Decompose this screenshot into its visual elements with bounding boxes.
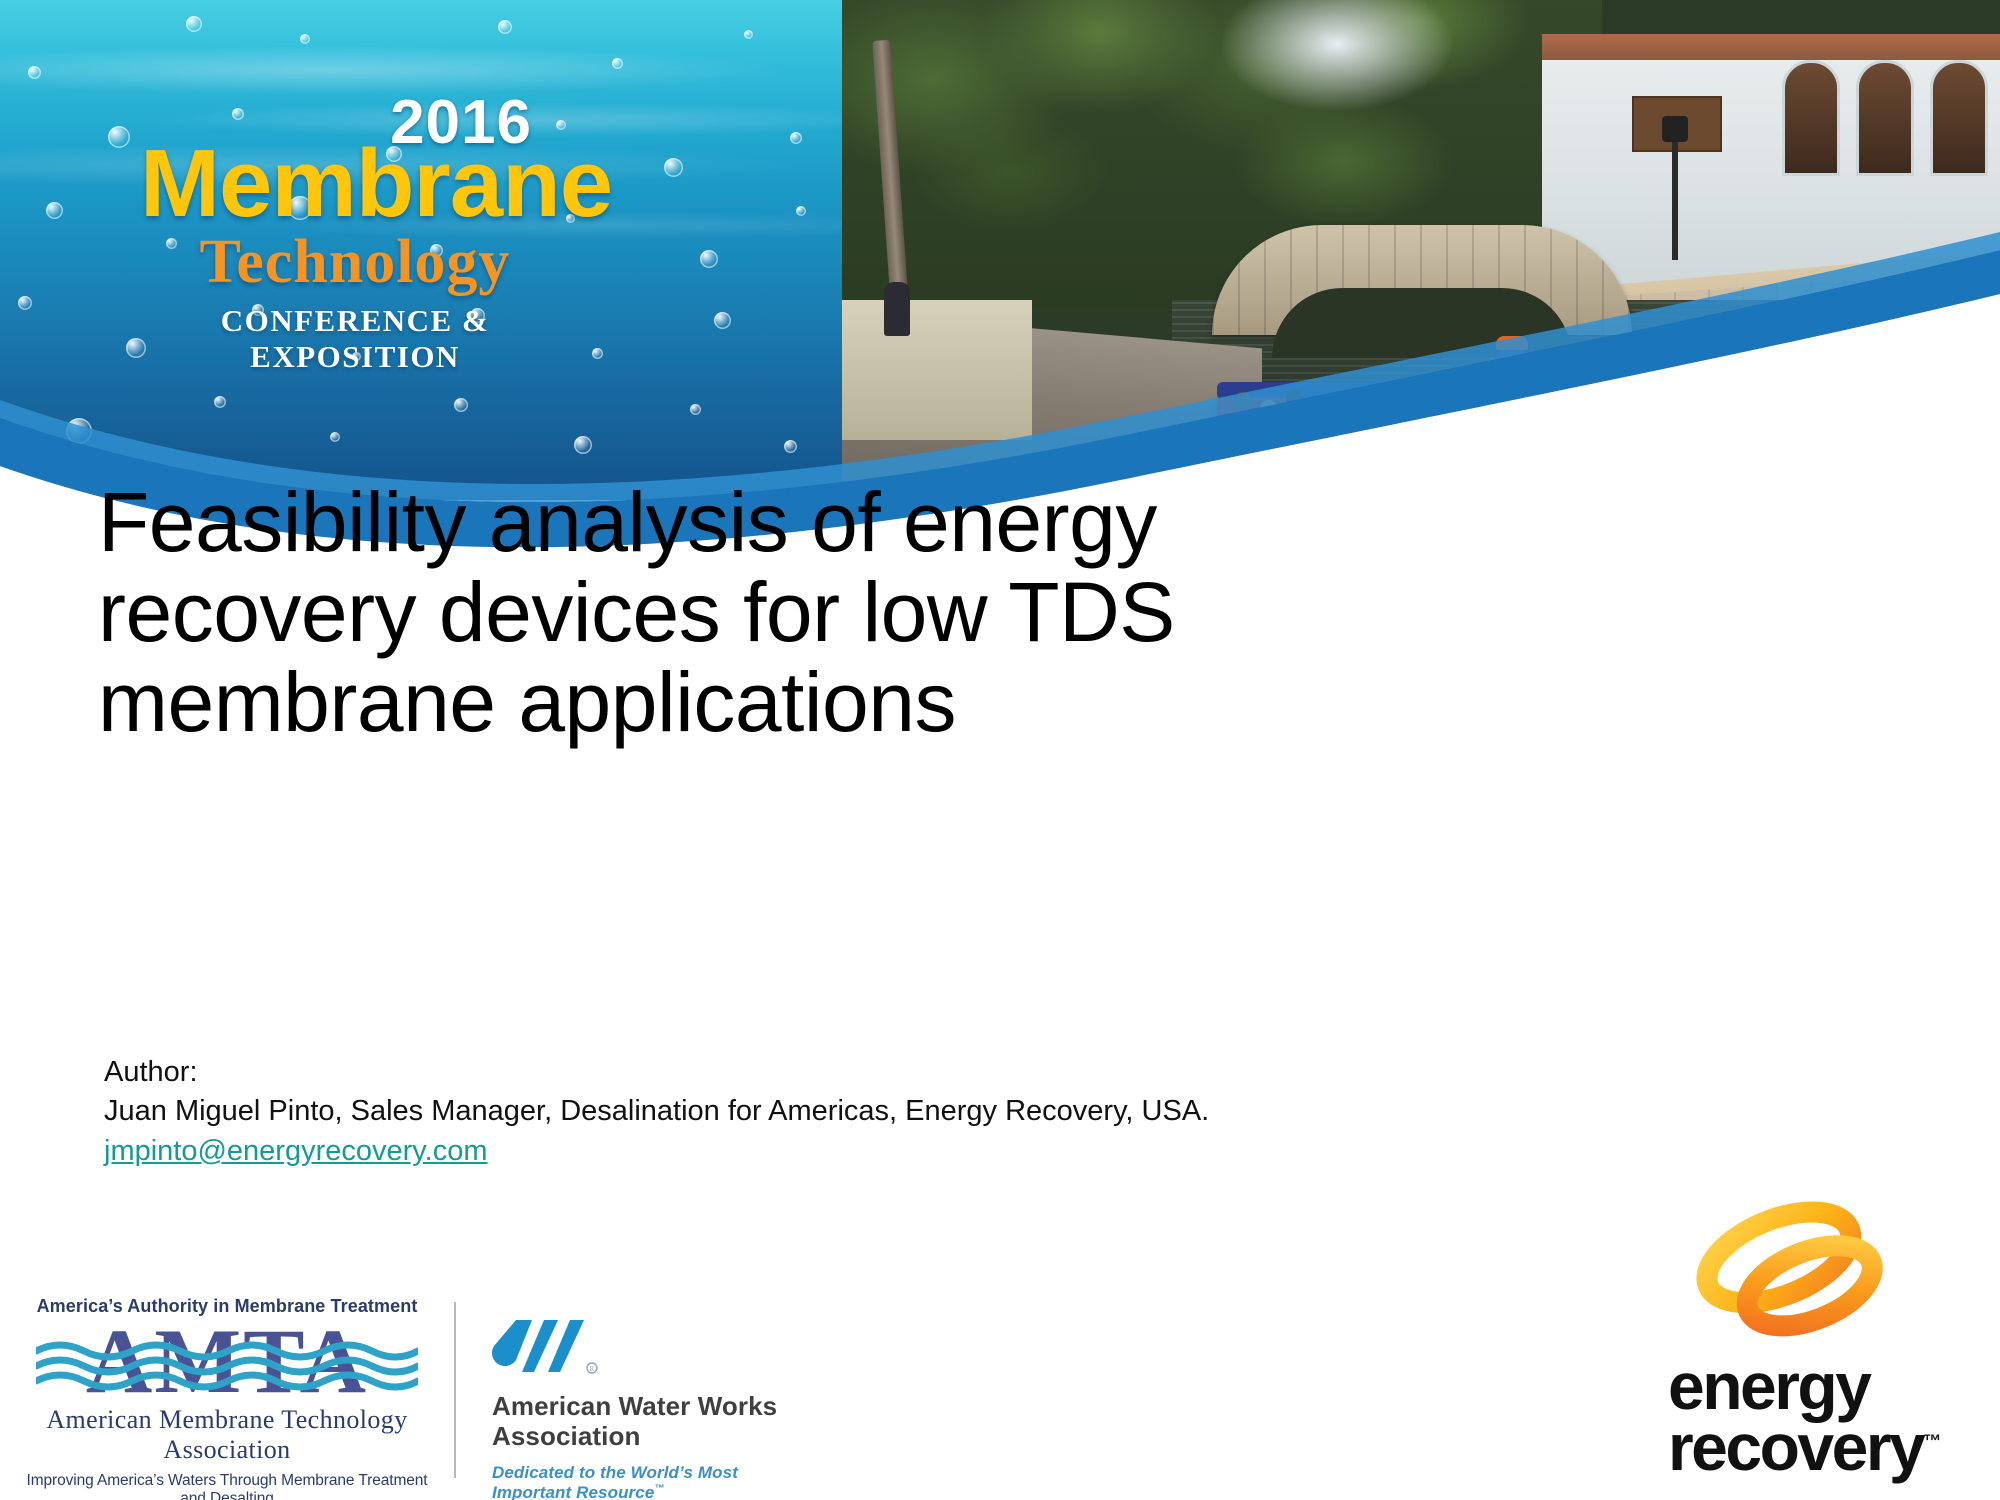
photo-passenger — [1338, 392, 1355, 409]
bubble — [498, 20, 512, 34]
bubble — [108, 126, 130, 148]
conference-logo-technology: Technology — [140, 231, 570, 293]
author-label: Author: — [104, 1053, 1404, 1092]
energy-recovery-wordmark: energy recovery™ — [1668, 1356, 2000, 1477]
author-email-row: jmpinto@energyrecovery.com — [104, 1132, 1404, 1171]
bubble — [612, 58, 623, 69]
header-banner: 2016 Membrane Technology CONFERENCE & EX… — [0, 0, 2000, 500]
photo-passenger — [1390, 392, 1407, 409]
bubble — [300, 34, 310, 44]
photo-passenger — [1442, 394, 1459, 411]
energy-recovery-line-2-row: recovery™ — [1668, 1417, 2000, 1478]
awwa-droplet-icon: R — [492, 1316, 612, 1378]
photo-passenger — [1468, 406, 1485, 423]
photo-window — [1930, 60, 1988, 176]
bubble — [690, 404, 701, 415]
awwa-name: American Water Works Association — [492, 1391, 822, 1451]
awwa-tagline-row: Dedicated to the World’s Most Important … — [492, 1463, 822, 1500]
photo-seated-person — [884, 282, 910, 336]
amta-tagline-bottom: Improving America’s Waters Through Membr… — [22, 1472, 432, 1500]
bubble — [18, 296, 32, 310]
bubble — [796, 206, 806, 216]
bubble — [700, 250, 718, 268]
bubble — [790, 132, 802, 144]
bubble — [744, 30, 753, 39]
bubble — [46, 202, 63, 219]
bubble — [454, 398, 468, 412]
bubble — [214, 396, 226, 408]
page-title: Feasibility analysis of energy recovery … — [98, 478, 1358, 748]
photo-passenger — [1416, 404, 1433, 421]
awwa-name-line-1: American Water Works — [492, 1391, 822, 1421]
bubble — [714, 312, 731, 329]
photo-building-roof — [1542, 34, 2000, 60]
title-line-2: recovery devices for low TDS — [98, 568, 1358, 658]
photo-guide-hat — [1496, 336, 1528, 350]
amta-full-name: American Membrane Technology Association — [22, 1405, 432, 1465]
bubble — [784, 440, 797, 453]
awwa-tagline: Dedicated to the World’s Most Important … — [492, 1463, 738, 1500]
photo-passenger — [1312, 402, 1329, 419]
photo-passenger — [1286, 390, 1303, 407]
photo-ledge — [842, 300, 1032, 440]
photo-passenger — [1234, 392, 1251, 409]
riverwalk-photo — [842, 0, 2000, 500]
title-line-3: membrane applications — [98, 658, 1358, 748]
energy-recovery-line-1: energy — [1668, 1356, 2000, 1417]
energy-recovery-trademark-symbol: ™ — [1923, 1431, 1941, 1451]
energy-recovery-line-2: recovery — [1668, 1410, 1923, 1484]
author-name-line: Juan Miguel Pinto, Sales Manager, Desali… — [104, 1092, 1404, 1131]
photo-window — [1856, 60, 1914, 176]
author-email-link[interactable]: jmpinto@energyrecovery.com — [104, 1132, 488, 1171]
bubble — [664, 158, 683, 177]
photo-boat-guide — [1497, 348, 1527, 422]
photo-lamppost — [1672, 130, 1678, 260]
bubble — [186, 16, 202, 32]
conference-logo-subtitle: CONFERENCE & EXPOSITION — [140, 303, 570, 375]
svg-text:R: R — [590, 1365, 595, 1373]
amta-wordmark: AMTA — [22, 1319, 432, 1403]
author-block: Author: Juan Miguel Pinto, Sales Manager… — [104, 1053, 1404, 1171]
conference-logo-membrane: Membrane — [140, 138, 570, 229]
bubble — [28, 66, 41, 79]
energy-recovery-mark-icon — [1668, 1185, 1918, 1357]
photo-passenger — [1364, 404, 1381, 421]
bubble — [574, 436, 592, 454]
amta-logo: America’s Authority in Membrane Treatmen… — [22, 1296, 432, 1500]
bubble — [330, 432, 340, 442]
photo-lamppost-head — [1662, 116, 1688, 142]
bubble — [592, 348, 603, 359]
photo-sky — [1222, 0, 1452, 110]
bubble — [66, 418, 92, 444]
presentation-slide: 2016 Membrane Technology CONFERENCE & EX… — [0, 0, 2000, 1500]
amta-wave-lines — [36, 1341, 418, 1397]
photo-window — [1782, 60, 1840, 176]
awwa-logo: R American Water Works Association Dedic… — [492, 1316, 822, 1500]
logo-divider — [454, 1302, 456, 1478]
energy-recovery-logo: energy recovery™ — [1668, 1185, 2000, 1477]
conference-logo: 2016 Membrane Technology CONFERENCE & EX… — [140, 92, 570, 375]
title-line-1: Feasibility analysis of energy — [98, 478, 1358, 568]
awwa-name-line-2: Association — [492, 1421, 822, 1451]
photo-passenger — [1260, 400, 1277, 417]
awwa-trademark-symbol: ™ — [654, 1484, 664, 1495]
